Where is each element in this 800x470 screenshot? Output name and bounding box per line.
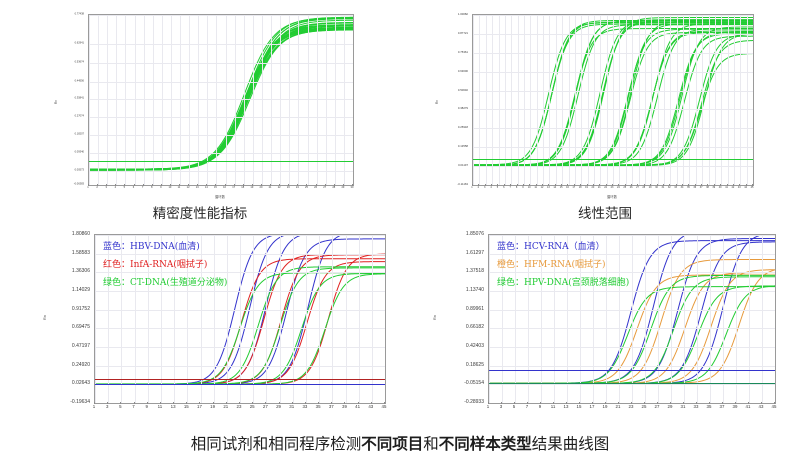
x-axis-tick-label: 29 [668, 404, 673, 409]
x-axis-tick-mark [252, 402, 253, 404]
x-axis-tick-mark [517, 184, 518, 186]
x-axis-tick-mark [683, 402, 684, 404]
threshold-line [489, 370, 775, 371]
x-axis-tick-mark [696, 402, 697, 404]
gridline-horizontal [89, 99, 353, 100]
x-axis-tick-label: 17 [590, 404, 595, 409]
x-axis-tick-label: 9 [522, 186, 523, 189]
main-caption-suffix: 结果曲线图 [532, 435, 610, 453]
x-axis-tick-label: 27 [655, 404, 660, 409]
x-axis-tick-mark [358, 402, 359, 404]
x-axis-tick-label: 11 [551, 404, 556, 409]
gridline-vertical [562, 15, 563, 185]
gridline-vertical [359, 235, 360, 403]
x-axis-tick-mark [650, 184, 651, 186]
y-axis-tick-label: 1.00082 [440, 12, 468, 16]
x-axis-tick-label: 2 [96, 186, 97, 189]
x-axis-tick-mark [606, 184, 607, 186]
x-axis-tick-mark [593, 184, 594, 186]
x-axis-tick-label: 7 [142, 186, 143, 189]
x-axis-tick-mark [657, 402, 658, 404]
x-axis-tick-mark [213, 402, 214, 404]
x-axis-tick-label: 31 [289, 404, 294, 409]
x-axis-tick-label: 11 [534, 186, 537, 189]
y-axis-tick-label: 0.24920 [50, 362, 90, 368]
x-axis-tick-mark [701, 184, 702, 186]
x-axis-tick-label: 19 [210, 404, 215, 409]
x-axis-tick-label: 30 [655, 186, 658, 189]
x-axis-tick-mark [226, 402, 227, 404]
x-axis-tick-mark [707, 184, 708, 186]
gridline-vertical [709, 15, 710, 185]
x-axis-tick-mark [657, 184, 658, 186]
x-axis-tick-label: 24 [296, 186, 299, 189]
x-axis-tick-mark [279, 184, 280, 186]
y-axis-tick-label: 0.53674 [60, 61, 84, 64]
gridline-vertical [740, 15, 741, 185]
x-axis-tick-label: 1 [87, 186, 88, 189]
gridline-horizontal [489, 310, 775, 311]
x-axis-tick-label: 13 [171, 404, 176, 409]
gridline-vertical [266, 235, 267, 403]
legend-item-hbv: 蓝色：HBV-DNA(血清) [103, 243, 227, 252]
y-axis-title-multi-left: Rn [42, 315, 47, 320]
x-axis-tick-mark [239, 402, 240, 404]
x-axis-tick-mark [688, 184, 689, 186]
gridline-vertical [715, 15, 716, 185]
x-axis-tick-mark [527, 402, 528, 404]
gridline-vertical [530, 15, 531, 185]
x-axis-tick-label: 35 [316, 404, 321, 409]
x-axis-tick-label: 25 [623, 186, 626, 189]
x-axis-tick-mark [115, 184, 116, 186]
y-axis-tick-label: 0.91752 [50, 306, 90, 312]
y-axis-title-multi-right: Rn [432, 315, 437, 320]
x-axis-tick-label: 32 [668, 186, 671, 189]
x-axis-tick-label: 23 [629, 404, 634, 409]
x-axis-tick-label: 42 [732, 186, 735, 189]
y-axis-tick-label: 0.18625 [440, 362, 484, 368]
gridline-vertical [293, 235, 294, 403]
x-axis-tick-label: 21 [598, 186, 601, 189]
x-axis-tick-label: 22 [604, 186, 607, 189]
x-axis-tick-mark [170, 184, 171, 186]
x-axis-tick-label: 28 [332, 186, 335, 189]
x-axis-tick-mark [631, 184, 632, 186]
y-axis-tick-label: 0.89961 [440, 306, 484, 312]
x-axis-tick-label: 27 [636, 186, 639, 189]
gridline-horizontal [489, 384, 775, 385]
x-axis-tick-label: 5 [119, 404, 121, 409]
x-axis-tick-mark [631, 402, 632, 404]
legend-item-hcv: 蓝色：HCV-RNA（血清） [497, 243, 629, 252]
x-axis-tick-mark [510, 184, 511, 186]
x-axis-tick-mark [265, 402, 266, 404]
legend-color-label-hfm: 橙色： [497, 260, 524, 270]
x-axis-tick-mark [592, 402, 593, 404]
x-axis-tick-label: 12 [541, 186, 544, 189]
gridline-vertical [664, 15, 665, 185]
gridline-horizontal [89, 63, 353, 64]
x-axis-tick-label: 44 [744, 186, 747, 189]
x-axis-tick-mark [206, 184, 207, 186]
x-axis-tick-label: 23 [237, 404, 242, 409]
legend-text-infa: InfA-RNA(咽拭子) [130, 260, 207, 270]
gridline-vertical [702, 15, 703, 185]
x-axis-tick-mark [720, 184, 721, 186]
legend-text-ct: CT-DNA(生殖道分泌物) [130, 278, 227, 288]
x-axis-tick-mark [234, 184, 235, 186]
gridline-horizontal [89, 153, 353, 154]
gridline-vertical [588, 15, 589, 185]
x-axis-tick-mark [618, 184, 619, 186]
x-axis-tick-mark [752, 184, 753, 186]
x-axis-tick-label: 22 [278, 186, 281, 189]
x-axis-tick-mark [161, 184, 162, 186]
x-axis-tick-mark [548, 184, 549, 186]
x-axis-tick-label: 41 [725, 186, 728, 189]
x-axis-tick-mark [143, 184, 144, 186]
x-axis-tick-mark [344, 402, 345, 404]
y-axis-tick-label: 0.27074 [60, 115, 84, 118]
x-axis-tick-mark [297, 184, 298, 186]
x-axis-tick-mark [270, 184, 271, 186]
x-axis-tick-label: 23 [611, 186, 614, 189]
gridline-vertical [696, 15, 697, 185]
x-axis-tick-label: 43 [759, 404, 764, 409]
x-axis-tick-mark [252, 184, 253, 186]
y-axis-tick-label: 0.69475 [50, 324, 90, 330]
x-axis-tick-label: 36 [693, 186, 696, 189]
gridline-vertical [658, 235, 659, 403]
x-axis-tick-mark [384, 402, 385, 404]
x-axis-tick-label: 13 [547, 186, 550, 189]
gridline-vertical [332, 235, 333, 403]
gridline-vertical [581, 15, 582, 185]
x-axis-tick-label: 40 [719, 186, 722, 189]
x-axis-tick-label: 4 [115, 186, 116, 189]
x-axis-tick-mark [197, 184, 198, 186]
y-axis-tick-label: 0.75361 [440, 50, 468, 54]
gridline-vertical [723, 235, 724, 403]
gridline-vertical [747, 15, 748, 185]
x-axis-tick-label: 13 [564, 404, 569, 409]
x-axis-tick-label: 8 [151, 186, 152, 189]
x-axis-tick-label: 20 [260, 186, 263, 189]
x-axis-tick-label: 3 [105, 186, 106, 189]
x-axis-tick-label: 45 [772, 404, 777, 409]
x-axis-tick-mark [488, 402, 489, 404]
gridline-vertical [524, 15, 525, 185]
x-axis-tick-label: 19 [585, 186, 588, 189]
gridline-horizontal [473, 53, 753, 54]
gridline-vertical [594, 15, 595, 185]
chart-multi-target-right: Rn 蓝色：HCV-RNA（血清） 橙色：HFM-RNA(咽拭子) 绿色：HPV… [440, 230, 780, 420]
gridline-vertical [575, 15, 576, 185]
main-caption-bold-1: 不同项目 [361, 435, 423, 453]
y-axis-tick-label: 1.61297 [440, 250, 484, 256]
gridline-vertical [511, 15, 512, 185]
plot-area-multi-right: 蓝色：HCV-RNA（血清） 橙色：HFM-RNA(咽拭子) 绿色：HPV-DN… [488, 234, 776, 404]
x-axis-tick-mark [733, 184, 734, 186]
x-axis-tick-label: 41 [355, 404, 360, 409]
y-axis-tick-label: 0.25918 [440, 125, 468, 129]
y-axis-tick-label: -0.05154 [440, 380, 484, 386]
x-axis-tick-label: 6 [503, 186, 504, 189]
gridline-vertical [319, 235, 320, 403]
x-axis-tick-mark [504, 184, 505, 186]
y-axis-tick-label: 0.42403 [440, 343, 484, 349]
gridline-vertical [479, 15, 480, 185]
x-axis-tick-label: 11 [158, 404, 163, 409]
x-axis-tick-label: 29 [649, 186, 652, 189]
x-axis-tick-label: 19 [250, 186, 253, 189]
legend-color-label-hbv: 蓝色： [103, 242, 130, 252]
x-axis-tick-label: 33 [674, 186, 677, 189]
gridline-horizontal [95, 328, 385, 329]
y-axis-tick-label: 0.02643 [50, 380, 90, 386]
gridline-vertical [505, 15, 506, 185]
x-axis-tick-label: 15 [577, 404, 582, 409]
x-axis-tick-label: 5 [513, 404, 515, 409]
plot-area-linearity [472, 14, 754, 186]
x-axis-title-precision: 循环数 [88, 194, 352, 199]
x-axis-tick-label: 27 [263, 404, 268, 409]
gridline-horizontal [489, 235, 775, 236]
caption-precision: 精密度性能指标 [110, 202, 290, 222]
x-axis-tick-label: 8 [516, 186, 517, 189]
x-axis-tick-mark [160, 402, 161, 404]
x-axis-tick-mark [243, 184, 244, 186]
x-axis-tick-mark [566, 402, 567, 404]
x-axis-tick-label: 24 [617, 186, 620, 189]
gridline-vertical [697, 235, 698, 403]
x-axis-tick-label: 6 [133, 186, 134, 189]
gridline-horizontal [89, 15, 353, 16]
y-axis-tick-label: 0.09340 [60, 151, 84, 154]
x-axis-tick-mark [261, 184, 262, 186]
gridline-vertical [645, 15, 646, 185]
legend-multi-left: 蓝色：HBV-DNA(血清) 红色：InfA-RNA(咽拭子) 绿色：CT-DN… [103, 243, 227, 288]
y-axis-tick-label: 1.80860 [50, 231, 90, 237]
gridline-horizontal [473, 91, 753, 92]
gridline-horizontal [489, 366, 775, 367]
x-axis-tick-label: 30 [351, 186, 354, 189]
x-axis-tick-mark [727, 184, 728, 186]
x-axis-tick-mark [352, 184, 353, 186]
x-axis-tick-label: 11 [178, 186, 181, 189]
gridline-vertical [632, 15, 633, 185]
x-axis-tick-mark [637, 184, 638, 186]
y-axis-title-precision: Rn [54, 100, 58, 104]
x-axis-tick-label: 15 [560, 186, 563, 189]
threshold-line [473, 159, 753, 160]
x-axis-tick-mark [695, 184, 696, 186]
y-axis-title-linearity: Rn [435, 100, 439, 104]
y-axis-tick-label: 0.13558 [440, 144, 468, 148]
x-axis-tick-mark [625, 184, 626, 186]
x-axis-tick-label: 21 [616, 404, 621, 409]
legend-color-label-hpv: 绿色： [497, 278, 524, 288]
gridline-vertical [632, 235, 633, 403]
gridline-vertical [626, 15, 627, 185]
x-axis-tick-label: 25 [305, 186, 308, 189]
legend-item-ct: 绿色：CT-DNA(生殖道分泌物) [103, 279, 227, 288]
x-axis-tick-mark [722, 402, 723, 404]
x-axis-tick-mark [561, 184, 562, 186]
x-axis-tick-mark [279, 402, 280, 404]
gridline-horizontal [473, 72, 753, 73]
x-axis-tick-mark [334, 184, 335, 186]
gridline-horizontal [95, 235, 385, 236]
gridline-vertical [473, 15, 474, 185]
x-axis-tick-label: 12 [187, 186, 190, 189]
x-axis-tick-mark [501, 402, 502, 404]
x-axis-tick-mark [478, 184, 479, 186]
x-axis-tick-mark [215, 184, 216, 186]
y-axis-tick-label: -0.28933 [440, 399, 484, 405]
x-axis-tick-label: 14 [205, 186, 208, 189]
gridline-horizontal [89, 117, 353, 118]
x-axis-tick-mark [107, 402, 108, 404]
threshold-line [95, 384, 385, 385]
x-axis-tick-label: 9 [145, 404, 147, 409]
x-axis-tick-mark [579, 402, 580, 404]
gridline-vertical [486, 15, 487, 185]
gridline-horizontal [489, 291, 775, 292]
chart-multi-target-left: Rn 蓝色：HBV-DNA(血清) 红色：InfA-RNA(咽拭子) 绿色：CT… [50, 230, 390, 420]
x-axis-tick-label: 14 [553, 186, 556, 189]
x-axis-tick-mark [580, 184, 581, 186]
x-axis-tick-label: 4 [490, 186, 491, 189]
gridline-vertical [775, 235, 776, 403]
x-axis-tick-mark [120, 402, 121, 404]
y-axis-tick-label: 0.62941 [60, 42, 84, 45]
gridline-horizontal [89, 82, 353, 83]
x-axis-tick-mark [540, 402, 541, 404]
x-axis-tick-label: 25 [642, 404, 647, 409]
x-axis-tick-label: 27 [323, 186, 326, 189]
gridline-vertical [569, 15, 570, 185]
x-axis-tick-label: 29 [341, 186, 344, 189]
x-axis-tick-label: 13 [196, 186, 199, 189]
legend-text-hfm: HFM-RNA(咽拭子) [524, 260, 606, 270]
x-axis-tick-mark [542, 184, 543, 186]
x-axis-tick-label: 21 [269, 186, 272, 189]
gridline-vertical [353, 15, 354, 185]
y-axis-tick-label: 0.63000 [440, 69, 468, 73]
y-axis-tick-label: 0.44556 [60, 79, 84, 82]
x-axis-tick-mark [325, 184, 326, 186]
x-axis-tick-mark [485, 184, 486, 186]
gridline-vertical [385, 235, 386, 403]
x-axis-tick-mark [709, 402, 710, 404]
x-axis-tick-mark [514, 402, 515, 404]
y-axis-tick-label: 1.36306 [50, 268, 90, 274]
gridline-vertical [651, 15, 652, 185]
x-axis-tick-label: 3 [500, 404, 502, 409]
gridline-horizontal [89, 171, 353, 172]
x-axis-tick-label: 39 [712, 186, 715, 189]
x-axis-tick-label: 2 [478, 186, 479, 189]
gridline-vertical [658, 15, 659, 185]
chart-linearity: Rn 循环数 1.000820.877210.753610.630000.506… [440, 8, 760, 200]
y-axis-tick-label: -0.06383 [60, 183, 84, 186]
gridline-horizontal [473, 15, 753, 16]
gridline-vertical [240, 235, 241, 403]
y-axis-tick-label: 1.37518 [440, 268, 484, 274]
x-axis-tick-mark [106, 184, 107, 186]
legend-item-hpv: 绿色：HPV-DNA(宫颈脱落细胞) [497, 279, 629, 288]
y-axis-tick-label: 0.35841 [60, 97, 84, 100]
y-axis-tick-label: 1.14029 [50, 287, 90, 293]
gridline-vertical [728, 15, 729, 185]
x-axis-tick-mark [774, 402, 775, 404]
gridline-vertical [537, 15, 538, 185]
x-axis-tick-label: 33 [694, 404, 699, 409]
x-axis-tick-label: 3 [106, 404, 108, 409]
x-axis-tick-mark [97, 184, 98, 186]
legend-text-hcv: HCV-RNA（血清） [524, 242, 605, 252]
x-axis-tick-mark [644, 402, 645, 404]
gridline-vertical [489, 235, 490, 403]
gridline-vertical [95, 235, 96, 403]
x-axis-tick-label: 41 [746, 404, 751, 409]
x-axis-tick-label: 10 [168, 186, 171, 189]
x-axis-tick-label: 31 [681, 404, 686, 409]
y-axis-tick-label: 0.01197 [440, 163, 468, 167]
x-axis-tick-mark [179, 184, 180, 186]
x-axis-tick-label: 15 [184, 404, 189, 409]
gridline-vertical [762, 235, 763, 403]
x-axis-tick-mark [663, 184, 664, 186]
gridline-horizontal [95, 310, 385, 311]
gridline-horizontal [95, 366, 385, 367]
gridline-horizontal [89, 44, 353, 45]
x-axis-tick-mark [497, 184, 498, 186]
x-axis-tick-label: 34 [681, 186, 684, 189]
x-axis-tick-label: 7 [526, 404, 528, 409]
x-axis-tick-label: 35 [707, 404, 712, 409]
y-axis-tick-label: 0.47197 [50, 343, 90, 349]
x-axis-tick-label: 1 [471, 186, 472, 189]
x-axis-tick-label: 15 [214, 186, 217, 189]
legend-item-hfm: 橙色：HFM-RNA(咽拭子) [497, 261, 629, 270]
x-axis-tick-label: 16 [566, 186, 569, 189]
gridline-vertical [600, 15, 601, 185]
main-caption-bold-2: 不同样本类型 [439, 435, 532, 453]
legend-text-hpv: HPV-DNA(宫颈脱落细胞) [524, 278, 629, 288]
x-axis-tick-label: 45 [751, 186, 754, 189]
x-axis-tick-label: 17 [572, 186, 575, 189]
caption-linearity: 线性范围 [545, 202, 665, 222]
x-axis-tick-label: 19 [603, 404, 608, 409]
x-axis-tick-mark [553, 402, 554, 404]
main-caption-mid: 和 [423, 435, 439, 453]
x-axis-tick-mark [735, 402, 736, 404]
gridline-vertical [556, 15, 557, 185]
x-axis-tick-label: 43 [738, 186, 741, 189]
legend-multi-right: 蓝色：HCV-RNA（血清） 橙色：HFM-RNA(咽拭子) 绿色：HPV-DN… [497, 243, 629, 288]
x-axis-tick-mark [567, 184, 568, 186]
x-axis-tick-mark [746, 184, 747, 186]
x-axis-tick-mark [371, 402, 372, 404]
gridline-vertical [372, 235, 373, 403]
legend-text-hbv: HBV-DNA(血清) [130, 242, 200, 252]
x-axis-tick-label: 26 [630, 186, 633, 189]
threshold-line [89, 161, 353, 162]
x-axis-tick-label: 3 [484, 186, 485, 189]
